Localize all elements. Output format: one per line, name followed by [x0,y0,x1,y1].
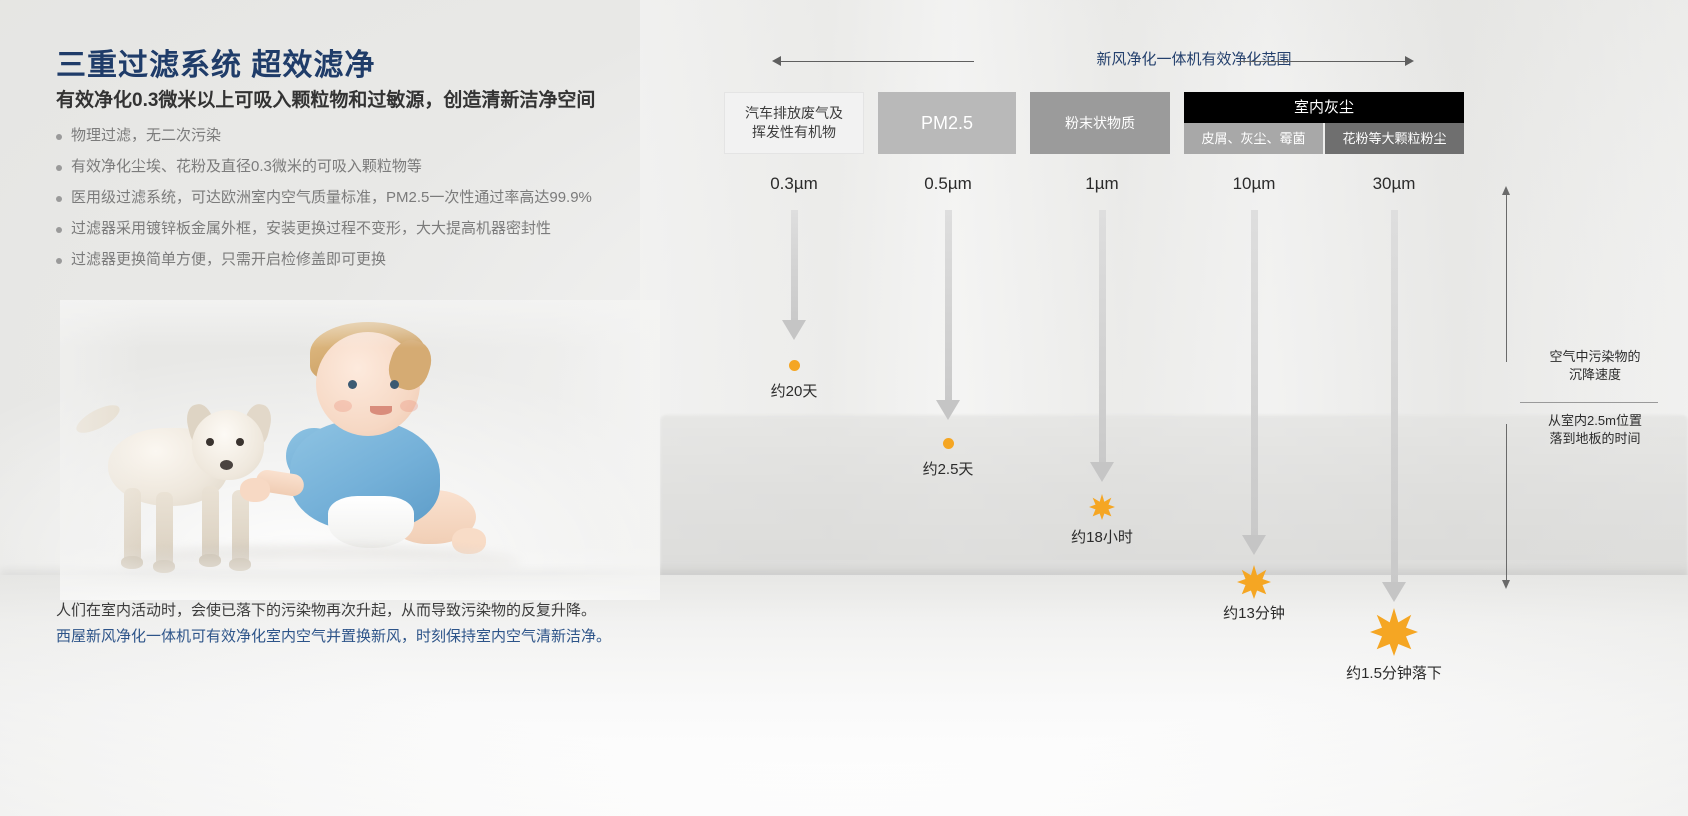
category-boxes: 汽车排放废气及 挥发性有机物 PM2.5 粉末状物质 室内灰尘 皮屑、灰尘、霉菌… [700,92,1688,154]
category-subrow: 皮屑、灰尘、霉菌 花粉等大颗粒粉尘 [1184,123,1464,154]
bullet-text: 过滤器采用镀锌板金属外框，安装更换过程不变形，大大提高机器密封性 [71,219,551,239]
arrow-down-icon [1242,535,1266,555]
axis-annotation-top-line1: 空气中污染物的 [1549,349,1640,364]
fall-shaft [1391,210,1398,582]
particle-marker-dot [789,360,800,371]
particle-marker-dot [943,438,954,449]
bullet-text: 物理过滤，无二次污染 [71,126,221,146]
baby-and-puppy-photo [60,300,660,600]
caption-line-2: 西屋新风净化一体机可有效净化室内空气并置换新风，时刻保持室内空气清新洁净。 [56,624,676,650]
axis-annotation-bottom-line2: 落到地板的时间 [1549,431,1640,446]
axis-annotation-bottom: 从室内2.5m位置 落到地板的时间 [1520,412,1670,448]
fall-shaft [945,210,952,400]
category-sub-dander: 皮屑、灰尘、霉菌 [1184,123,1323,154]
particle-settling-chart: 新风净化一体机有效净化范围 汽车排放废气及 挥发性有机物 PM2.5 粉末状物质… [700,0,1688,816]
axis-annotation-top-line2: 沉降速度 [1569,367,1621,382]
settling-time-label-2: 约18小时 [1012,526,1192,547]
particle-marker-star [1237,565,1271,599]
axis-divider [1520,402,1658,403]
bullet-text: 医用级过滤系统，可达欧洲室内空气质量标准，PM2.5一次性通过率高达99.9% [71,188,592,208]
size-label-4: 30µm [1334,174,1454,194]
arrow-down-icon [782,320,806,340]
list-item: 有效净化尘埃、花粉及直径0.3微米的可吸入颗粒物等 [56,157,676,177]
arrow-down-icon [1090,462,1114,482]
category-box-pm25: PM2.5 [878,92,1016,154]
bullet-text: 过滤器更换简单方便，只需开启检修盖即可更换 [71,250,386,270]
bullet-dot-icon [56,196,62,202]
category-label-indoor-dust: 室内灰尘 [1184,92,1464,123]
bullet-dot-icon [56,227,62,233]
list-item: 医用级过滤系统，可达欧洲室内空气质量标准，PM2.5一次性通过率高达99.9% [56,188,676,208]
fall-shaft [1251,210,1258,535]
settling-time-label-3: 约13分钟 [1164,602,1344,623]
caption-line-1: 人们在室内活动时，会使已落下的污染物再次升起，从而导致污染物的反复升降。 [56,598,676,624]
bullet-dot-icon [56,134,62,140]
settling-time-label-0: 约20天 [704,380,884,401]
category-box-voc: 汽车排放废气及 挥发性有机物 [724,92,864,154]
page-title: 三重过滤系统 超效滤净 [56,40,375,84]
size-label-3: 10µm [1194,174,1314,194]
category-box-indoor-dust: 室内灰尘 皮屑、灰尘、霉菌 花粉等大颗粒粉尘 [1184,92,1464,154]
axis-annotation-top: 空气中污染物的 沉降速度 [1520,348,1670,384]
bullet-dot-icon [56,165,62,171]
category-sub-pollen: 花粉等大颗粒粉尘 [1325,123,1464,154]
settling-speed-axis: 空气中污染物的 沉降速度 从室内2.5m位置 落到地板的时间 [1500,180,1680,600]
list-item: 过滤器采用镀锌板金属外框，安装更换过程不变形，大大提高机器密封性 [56,219,676,239]
arrow-right-icon [1405,56,1414,66]
fall-shaft [791,210,798,320]
particle-marker-star [1089,494,1115,520]
bullet-text: 有效净化尘埃、花粉及直径0.3微米的可吸入颗粒物等 [71,157,422,177]
size-label-1: 0.5µm [888,174,1008,194]
axis-line-top [1506,194,1507,362]
category-label-line1: 汽车排放废气及 [745,105,843,121]
caption-block: 人们在室内活动时，会使已落下的污染物再次升起，从而导致污染物的反复升降。 西屋新… [56,598,676,650]
axis-line-bottom [1506,424,1507,586]
category-box-powder: 粉末状物质 [1030,92,1170,154]
size-label-2: 1µm [1042,174,1162,194]
arrow-down-icon [1502,580,1510,589]
bullet-dot-icon [56,258,62,264]
purification-range-header: 新风净化一体机有效净化范围 [700,48,1688,74]
feature-bullet-list: 物理过滤，无二次污染 有效净化尘埃、花粉及直径0.3微米的可吸入颗粒物等 医用级… [56,126,676,281]
left-panel: 三重过滤系统 超效滤净 有效净化0.3微米以上可吸入颗粒物和过敏源，创造清新洁净… [0,0,700,816]
page-subtitle: 有效净化0.3微米以上可吸入颗粒物和过敏源，创造清新洁净空间 [56,85,595,112]
size-label-0: 0.3µm [734,174,854,194]
photo-fade-overlay [60,300,660,600]
settling-time-label-1: 约2.5天 [858,458,1038,479]
arrow-down-icon [936,400,960,420]
arrow-down-icon [1382,582,1406,602]
list-item: 过滤器更换简单方便，只需开启检修盖即可更换 [56,250,676,270]
axis-annotation-bottom-line1: 从室内2.5m位置 [1548,413,1642,428]
range-label: 新风净化一体机有效净化范围 [700,48,1688,69]
particle-marker-star [1370,608,1418,656]
fall-shaft [1099,210,1106,462]
range-line-right [1240,61,1410,62]
settling-time-label-4: 约1.5分钟落下 [1304,662,1484,683]
category-label-line2: 挥发性有机物 [752,124,836,140]
list-item: 物理过滤，无二次污染 [56,126,676,146]
